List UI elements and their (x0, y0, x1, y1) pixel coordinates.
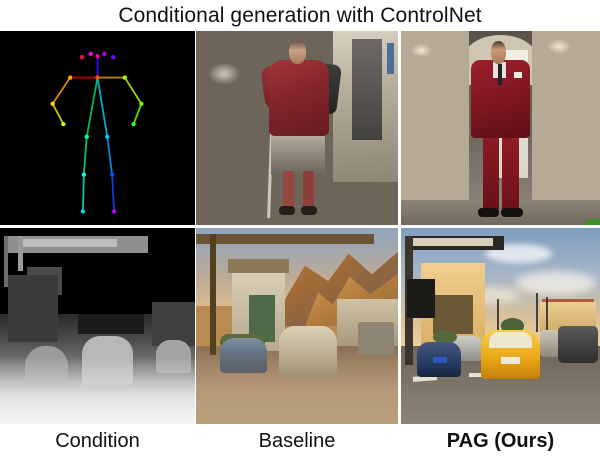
dusty-house-roof (228, 259, 289, 273)
city-dark-sign (407, 279, 435, 318)
panel-condition-depth (0, 228, 195, 424)
pose-joint (81, 209, 85, 213)
pose-joint (80, 55, 84, 59)
pose-skeleton-svg (0, 31, 195, 225)
pose-joint (89, 52, 93, 56)
city-gantry-sign (413, 238, 493, 246)
pose-joint (51, 102, 55, 106)
page-title: Conditional generation with ControlNet (0, 0, 600, 31)
panel-condition-pose (0, 31, 195, 225)
pose-limb (112, 175, 114, 212)
city-lamp-c (546, 297, 548, 332)
pose-joint (110, 172, 114, 176)
rubble-doorway (352, 39, 382, 140)
stone-wall-right (532, 31, 600, 225)
openpose-skeleton-canvas (0, 31, 195, 225)
man-left-shoe (478, 208, 500, 218)
depth-map-canvas (0, 228, 195, 424)
pose-joint (111, 55, 115, 59)
person-skirt (271, 132, 326, 175)
stone-wall-left (401, 31, 469, 225)
pose-joint (123, 75, 127, 79)
rubble-scene (196, 31, 398, 225)
city-cloud-2 (516, 271, 596, 295)
pose-joint (85, 135, 89, 139)
panel-baseline-person (196, 31, 398, 225)
person-head (289, 41, 306, 64)
pose-limb (83, 175, 84, 212)
depth-trees (78, 314, 144, 334)
column-label-baseline: Baseline (196, 425, 398, 458)
pose-joint (131, 122, 135, 126)
pose-joint (68, 75, 72, 79)
city-van (558, 326, 598, 363)
image-grid (0, 31, 600, 425)
green-corner-artifact (586, 219, 600, 225)
pose-joint (105, 135, 109, 139)
depth-near-haze (0, 357, 195, 424)
rubble-blue-panel (387, 43, 394, 74)
pose-limb (87, 78, 98, 137)
dusty-overhead-beam (196, 234, 374, 244)
column-label-pag: PAG (Ours) (401, 425, 600, 458)
man-right-leg (502, 136, 519, 210)
pose-limb (53, 104, 64, 124)
pose-limb (53, 78, 71, 104)
archway-scene (401, 31, 600, 225)
pose-joint (95, 54, 99, 58)
pose-joint (95, 75, 99, 79)
pose-joint (82, 172, 86, 176)
dust-haze (196, 350, 398, 424)
pose-joint (61, 122, 65, 126)
pose-limb (107, 137, 112, 175)
panel-pag-street (401, 228, 600, 424)
man-pocket-square (514, 72, 522, 78)
city-car-yellow-plate (501, 357, 521, 364)
pose-limb (84, 137, 87, 175)
panel-baseline-street (196, 228, 398, 424)
panel-pag-person (401, 31, 600, 225)
depth-gantry-sign (23, 239, 117, 247)
person-right-shoe (301, 206, 317, 216)
city-lamp-a (497, 299, 499, 334)
city-car-yellow-window (489, 332, 533, 348)
man-left-leg (483, 136, 500, 210)
depth-pole (18, 236, 24, 271)
person-left-shoe (279, 206, 295, 216)
person-left-leg (283, 171, 294, 210)
pose-joint (139, 102, 143, 106)
pose-limb (98, 78, 108, 137)
pose-joint (102, 52, 106, 56)
person-red-coat (269, 60, 330, 136)
pose-limb (134, 104, 142, 124)
pose-joint (112, 209, 116, 213)
depth-building-left (8, 275, 59, 342)
man-tie (498, 64, 503, 85)
column-label-condition: Condition (0, 425, 195, 458)
dusty-beam-post (210, 234, 216, 356)
man-right-shoe (501, 208, 523, 218)
city-lamp-b (536, 293, 538, 332)
figure-root: Conditional generation with ControlNet (0, 0, 600, 458)
city-car-blue-plate (433, 357, 447, 363)
pose-limb (125, 78, 142, 104)
person-right-leg (303, 171, 314, 210)
column-labels: Condition Baseline PAG (Ours) (0, 425, 600, 458)
dusty-street-scene (196, 228, 398, 424)
city-building-window (433, 295, 473, 334)
city-street-scene (401, 228, 600, 424)
man-head (491, 41, 507, 64)
